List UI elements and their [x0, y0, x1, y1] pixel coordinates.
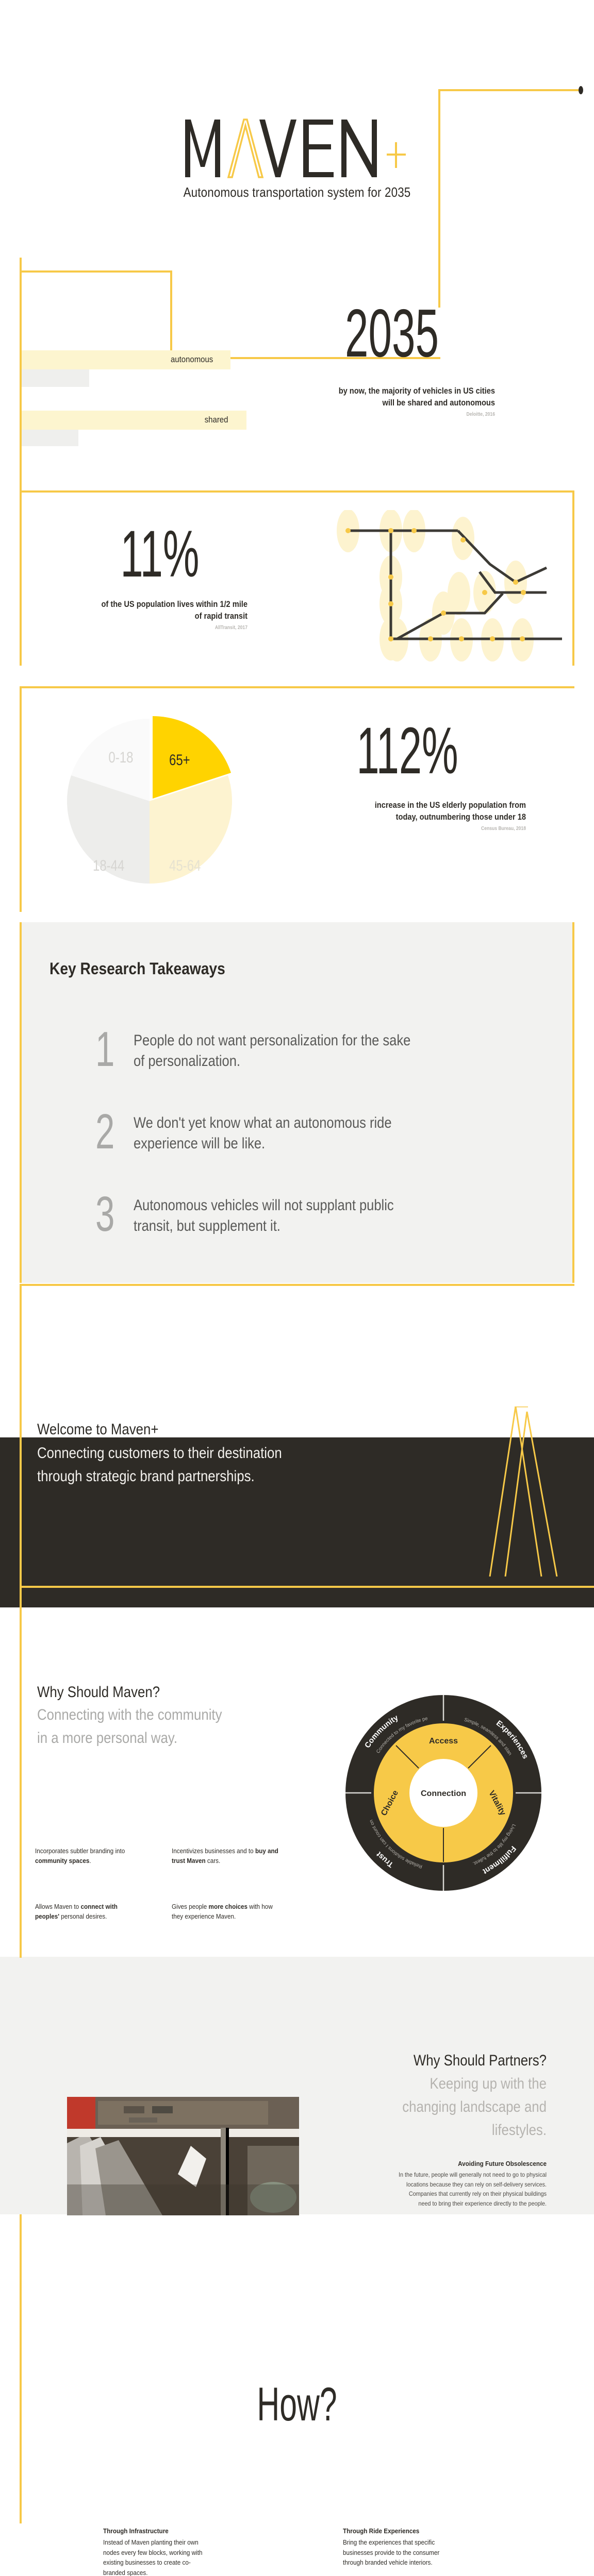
escalator-photo	[67, 2097, 299, 2215]
welcome-chevron-decor	[485, 1406, 588, 1577]
pie-label-18-44: 18-44	[93, 856, 124, 874]
partners-note-title: Avoiding Future Obsolescence	[398, 2160, 547, 2167]
welcome-rail-left-dark	[20, 1437, 22, 1607]
how-col2-heading: Through Ride Experiences	[343, 2527, 450, 2535]
takeaway-number-3: 3	[95, 1195, 119, 1234]
welcome-frame-top	[20, 1284, 574, 1286]
why-partners-rail	[20, 1917, 22, 1958]
why-maven-frame-topline	[20, 1586, 594, 1588]
stat-2035-description: by now, the majority of vehicles in US c…	[335, 385, 495, 409]
takeaway-item-3: 3 Autonomous vehicles will not supplant …	[95, 1195, 508, 1236]
stat-11-section: 11% of the US population lives within 1/…	[0, 459, 594, 665]
frame3-top	[20, 686, 574, 688]
pie-label-0-18: 0-18	[108, 748, 133, 766]
stat-2035-source: Deloitte, 2016	[335, 412, 495, 417]
maven-logo	[183, 117, 420, 179]
takeaways-rail-right	[572, 922, 574, 1283]
takeaway-number-1: 1	[95, 1030, 119, 1069]
welcome-title: Welcome to Maven+	[37, 1421, 158, 1438]
pie-label-65plus: 65+	[169, 751, 190, 768]
why-partners-body: Keeping up with the changing landscape a…	[387, 2072, 547, 2142]
escalator-photo-svg	[67, 2097, 299, 2215]
why-maven-caption-1: Incorporates subtler branding into commu…	[35, 1846, 142, 1866]
stat-11-value: 11%	[96, 524, 224, 584]
left-rail-2	[20, 459, 22, 493]
transit-map-diagram	[325, 510, 572, 665]
stat-2035-value: 2035	[328, 303, 456, 364]
left-rail-2b	[20, 490, 22, 666]
bar-autonomous-sub	[22, 369, 89, 387]
hero-frame-endcap	[579, 86, 583, 94]
pie-label-45-64: 45-64	[169, 856, 201, 874]
how-title: How?	[101, 2378, 493, 2432]
maven-wordmark-svg	[183, 117, 420, 179]
stat-112-source: Census Bureau, 2018	[353, 826, 526, 832]
wheel-label-connection: Connection	[421, 1789, 466, 1798]
stat-11-source: AllTransit, 2017	[101, 625, 247, 631]
age-pie-chart: 0-18 18-44 45-64 65+	[52, 701, 247, 896]
hero-tagline: Autonomous transportation system for 203…	[42, 184, 553, 200]
partners-note-body: In the future, people will generally not…	[398, 2170, 547, 2208]
plus-icon	[387, 142, 406, 168]
left-rail-3	[20, 686, 22, 912]
how-col1-body: Instead of Maven planting their own node…	[103, 2537, 210, 2576]
hero-section: Autonomous transportation system for 203…	[0, 0, 594, 258]
how-rail	[20, 2214, 22, 2523]
wheel-label-access: Access	[429, 1737, 458, 1745]
why-maven-caption-4: Gives people more choices with how they …	[172, 1902, 278, 1922]
stat-11-description: of the US population lives within 1/2 mi…	[101, 599, 247, 622]
why-maven-caption-3: Allows Maven to connect with peoples' pe…	[35, 1902, 142, 1922]
takeaway-number-2: 2	[95, 1113, 119, 1151]
stat-112-value: 112%	[334, 721, 481, 781]
why-maven-caption-2: Incentivizes businesses and to buy and t…	[172, 1846, 278, 1866]
maven-value-wheel: Community Connected to my favorite peopl…	[340, 1690, 547, 1896]
bar-autonomous-label: autonomous	[34, 354, 213, 365]
takeaway-text-2: We don't yet know what an autonomous rid…	[134, 1113, 414, 1154]
how-col1-heading: Through Infrastructure	[103, 2527, 210, 2535]
bar-shared-sub	[22, 430, 78, 446]
takeaways-title: Key Research Takeaways	[49, 959, 225, 978]
takeaway-text-1: People do not want personalization for t…	[134, 1030, 414, 1071]
hero-frame-top-right	[438, 89, 582, 91]
takeaway-text-3: Autonomous vehicles will not supplant pu…	[134, 1195, 414, 1236]
welcome-body: Connecting customers to their destinatio…	[37, 1442, 286, 1488]
takeaways-rail-left	[20, 922, 22, 1283]
why-maven-rail	[20, 1607, 22, 1917]
stat-112-description: increase in the US elderly population fr…	[353, 800, 526, 823]
frame2-right	[572, 490, 574, 666]
bar-shared-label: shared	[35, 415, 228, 425]
takeaway-item-1: 1 People do not want personalization for…	[95, 1030, 508, 1071]
stat-112-section: 0-18 18-44 45-64 65+ 112% increase in th…	[0, 665, 594, 912]
maven-pitch-deck: Autonomous transportation system for 203…	[0, 0, 594, 2576]
why-partners-title: Why Should Partners?	[387, 2052, 547, 2070]
frame2-top	[20, 490, 574, 493]
stat-2035-section: autonomous shared 2035 by now, the major…	[0, 258, 594, 459]
how-col2-body: Bring the experiences that specific busi…	[343, 2537, 450, 2568]
takeaway-item-2: 2 We don't yet know what an autonomous r…	[95, 1113, 508, 1154]
why-maven-title: Why Should Maven?	[37, 1684, 160, 1701]
why-maven-body: Connecting with the community in a more …	[37, 1703, 228, 1750]
